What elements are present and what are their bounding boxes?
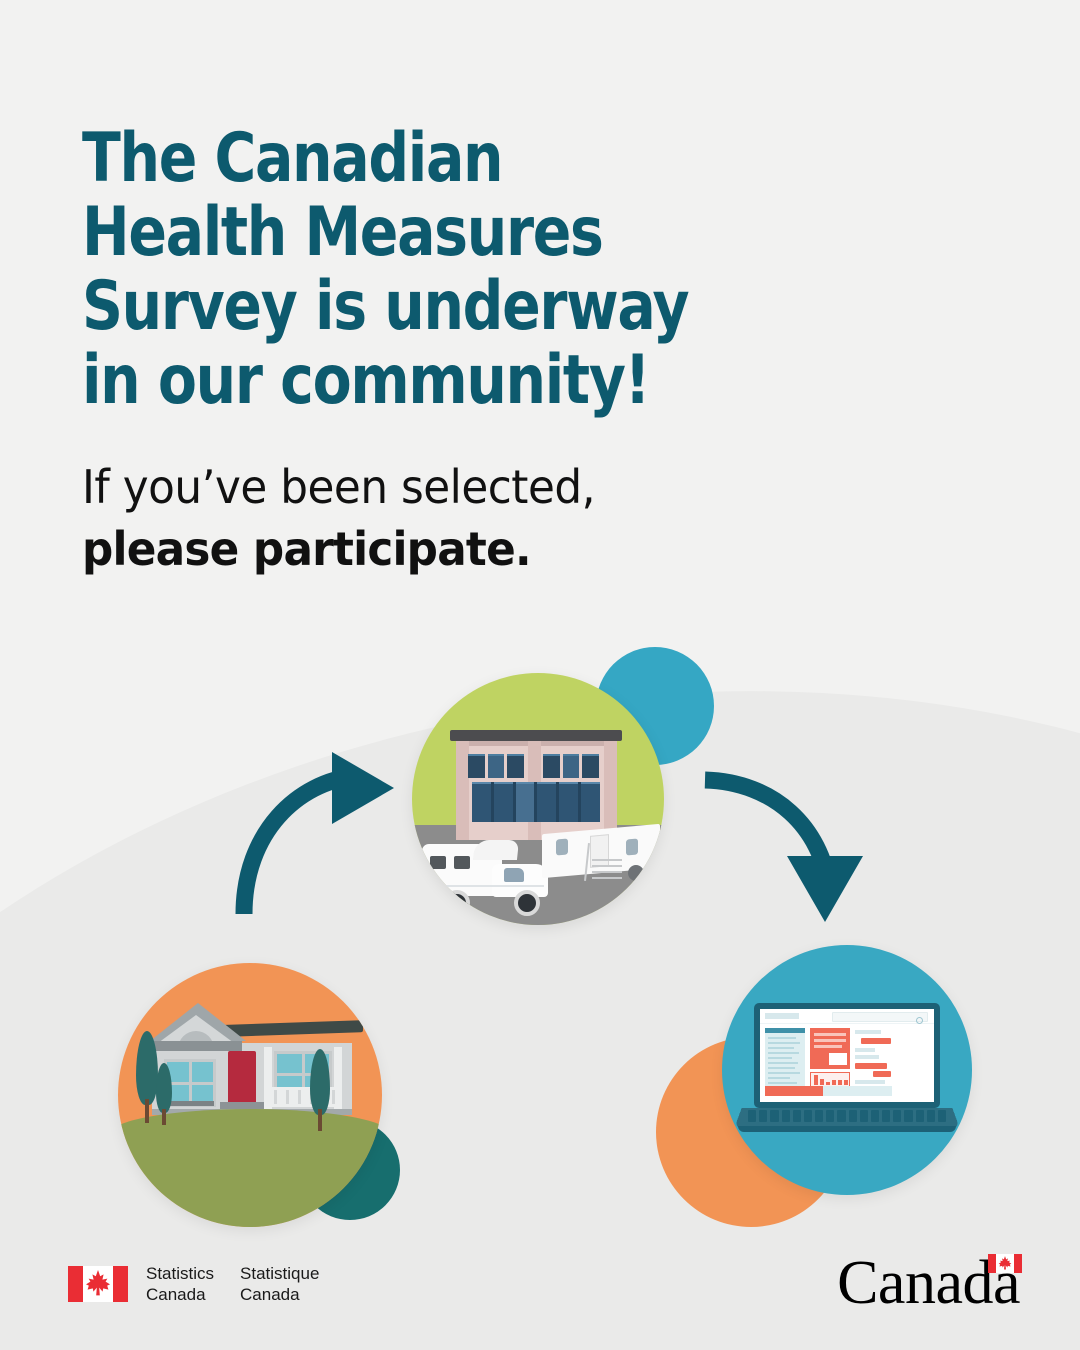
subtitle: If you’ve been selected, please particip… (82, 456, 804, 580)
screen-footer-bar (765, 1086, 892, 1096)
mobile-clinic-trailer (542, 823, 662, 885)
cypress-tree (136, 1031, 158, 1123)
building-ground-floor-glass (472, 782, 600, 822)
page-title: The Canadian Health Measures Survey is u… (82, 122, 789, 418)
screen-featured-card (810, 1028, 850, 1069)
arrow-house-to-clinic-icon (228, 752, 418, 922)
laptop-illustration (738, 1003, 956, 1135)
cypress-tree (156, 1063, 172, 1125)
laptop-keyboard (748, 1110, 946, 1122)
background-arc-shape (0, 552, 1080, 1350)
subtitle-line-2: please participate. (82, 518, 804, 580)
poster-canvas: The Canadian Health Measures Survey is u… (0, 0, 1080, 1350)
rv-windshield (504, 868, 524, 882)
scene-household (118, 963, 382, 1227)
rv-window (454, 856, 470, 869)
trailer-wheel (628, 865, 644, 881)
statistics-canada-signature: Statistics Canada Statistique Canada (68, 1263, 319, 1305)
rv-overcab (473, 840, 519, 860)
canada-wordmark-flag-icon (988, 1254, 1022, 1273)
laptop-lid (754, 1003, 940, 1108)
building-roof (450, 730, 622, 741)
house-front-door (228, 1051, 256, 1109)
screen-footer-accent (765, 1086, 823, 1096)
building-windows-upper-right (543, 754, 599, 776)
statcan-label-en: Statistics Canada (146, 1263, 214, 1305)
house-porch-roof (150, 1041, 242, 1051)
cypress-tree (310, 1049, 330, 1131)
canada-wordmark: Canada (837, 1252, 1020, 1314)
search-icon (916, 1017, 923, 1024)
screen-header-bar (760, 1009, 934, 1024)
screen-sidebar (765, 1028, 805, 1088)
subtitle-line-1: If you’ve been selected, (82, 456, 804, 518)
rv-trim (424, 885, 544, 887)
laptop-screen (760, 1009, 934, 1102)
house-lawn (118, 1109, 382, 1227)
trailer-stairs (592, 857, 626, 883)
building-windows-upper-left (468, 754, 524, 776)
canadian-flag-icon (68, 1266, 128, 1302)
trailer-window (556, 838, 568, 855)
arrow-clinic-to-laptop-icon (683, 752, 873, 927)
rv-wheel (514, 890, 540, 916)
trailer-window (626, 838, 638, 855)
screen-search-field (832, 1012, 928, 1022)
rv-window (430, 856, 446, 869)
screen-logo-placeholder (765, 1013, 799, 1019)
statistics-canada-text: Statistics Canada Statistique Canada (146, 1263, 319, 1305)
screen-right-column (855, 1028, 892, 1088)
porch-railing (268, 1087, 342, 1107)
sidebar-header (765, 1028, 805, 1033)
laptop-front-edge (738, 1126, 956, 1132)
scene-mobile-clinic (412, 673, 664, 925)
rv-wheel (444, 890, 470, 916)
mobile-examination-vehicle (422, 838, 552, 910)
statcan-label-fr: Statistique Canada (240, 1263, 319, 1305)
card-image-placeholder (829, 1053, 847, 1065)
scene-online-questionnaire (722, 945, 972, 1195)
